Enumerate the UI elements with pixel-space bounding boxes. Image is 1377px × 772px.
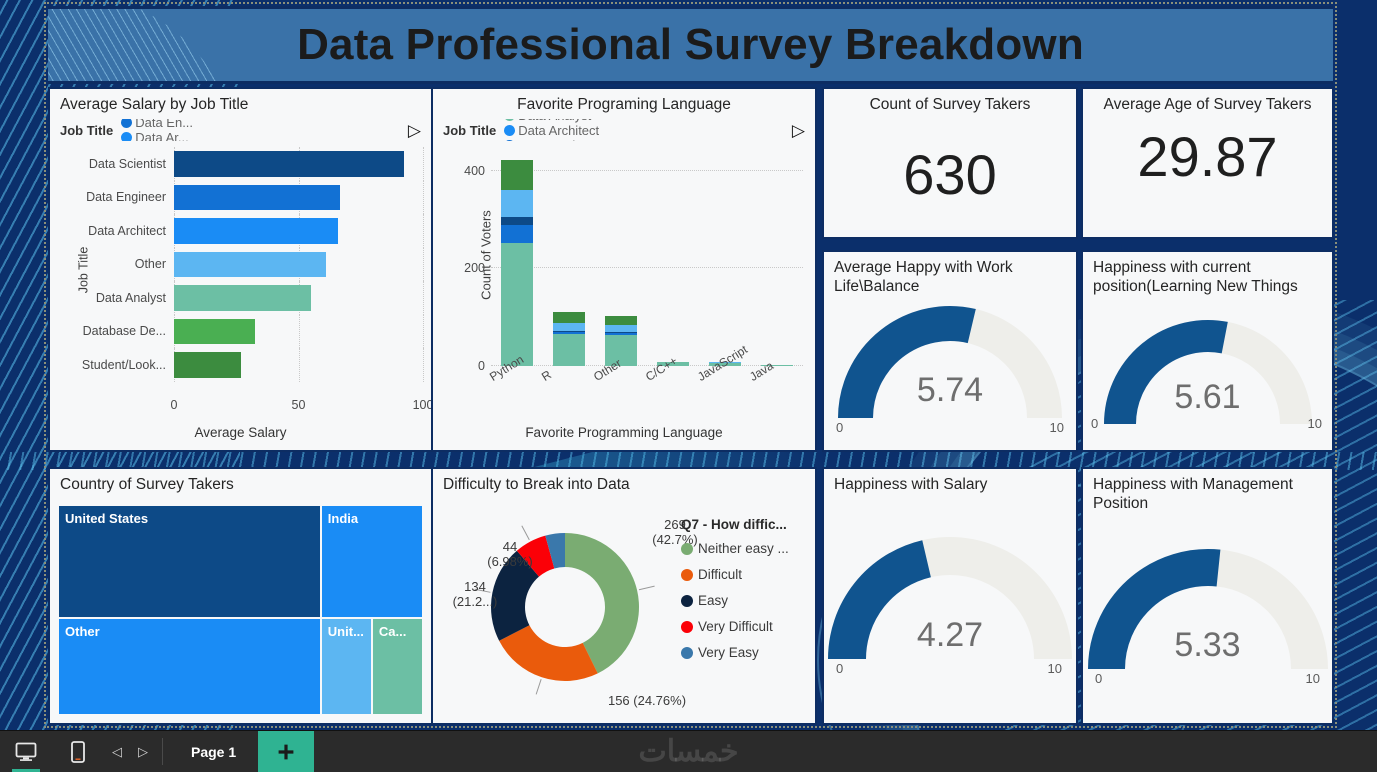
legend-key-label: Job Title [443,123,496,138]
stacked-column[interactable]: R [553,312,586,366]
legend-color-dot-icon [504,119,515,121]
donut-slice[interactable] [499,625,598,681]
x-axis-tick-label: 100 [413,398,433,412]
legend-items-container[interactable]: Data AnalystData ArchitectData Engin... [504,119,603,141]
page-tab-page-1[interactable]: Page 1 [169,731,258,772]
stacked-column[interactable]: Other [605,316,638,366]
bar-track [174,315,423,349]
donut-legend-title: Q7 - How diffic... [681,517,809,532]
previous-page-button[interactable]: ◁ [104,731,130,772]
donut-legend-item-label: Very Easy [698,645,759,660]
legend-color-dot-icon [681,647,693,659]
y-axis-tick-label: 0 [478,359,485,373]
gauge-value-work-life-balance: 5.74 [824,371,1076,410]
next-page-button[interactable]: ▷ [130,731,156,772]
mobile-view-button[interactable] [52,731,104,772]
tile-gauge-management-position[interactable]: Happiness with Management Position 5.33 … [1081,467,1334,725]
gridline: 200 [491,267,803,268]
legend-key-label: Job Title [60,123,113,138]
tile-average-age-of-survey-takers[interactable]: Average Age of Survey Takers 29.87 [1081,87,1334,239]
x-axis-tick-label: C/C++ [643,354,680,384]
legend-item-label: Data En... [135,119,193,130]
legend-color-dot-icon [681,621,693,633]
x-axis-title-favorite-language: Favorite Programming Language [433,425,815,440]
gauge-max-label: 10 [1048,661,1062,676]
donut-data-label-value: 134 [437,579,513,594]
bar-category-label: Student/Look... [62,358,174,372]
bar-category-label: Database De... [62,324,174,338]
gauge-title-management-position: Happiness with Management Position [1083,469,1332,514]
donut-data-label: 134(21.2...) [437,579,513,610]
legend-color-dot-icon [121,119,132,128]
kpi-value-average-age: 29.87 [1083,129,1332,185]
bar-category-label: Data Architect [62,224,174,238]
gridline [423,248,424,282]
gauge-value-management-position: 5.33 [1083,626,1332,665]
gauge-max-label: 10 [1050,420,1064,435]
gauge-max-label: 10 [1308,416,1322,431]
bar-fill[interactable] [174,285,311,311]
power-bi-report-window: Data Professional Survey Breakdown Avera… [0,0,1377,772]
legend-item-label: Data Architect [518,123,599,138]
donut-leader-line [639,586,655,590]
legend-items-container[interactable]: Data Sci...Data En...Data Ar...Other [121,119,199,141]
stacked-column-segment[interactable] [501,160,534,189]
gridline [423,181,424,215]
tile-favorite-programming-language[interactable]: Favorite Programing Language Job Title D… [431,87,817,452]
tile-gauge-work-life-balance[interactable]: Average Happy with Work Life\Balance 5.7… [822,250,1078,452]
bar-track [174,214,423,248]
status-bar-divider [162,738,163,765]
gridline [423,281,424,315]
donut-legend-items[interactable]: Neither easy ...DifficultEasyVery Diffic… [681,541,809,660]
stacked-column[interactable]: Java [761,365,794,366]
tile-count-of-survey-takers[interactable]: Count of Survey Takers 630 [822,87,1078,239]
bar-fill[interactable] [174,252,326,278]
bar-track [174,147,423,181]
bar-category-label: Data Analyst [62,291,174,305]
donut-data-label-percent: (21.2...) [437,594,513,609]
tile-average-salary-by-job-title[interactable]: Average Salary by Job Title Job Title Da… [48,87,433,452]
legend-item[interactable]: Data Ar... [121,130,195,141]
bar-fill[interactable] [174,185,340,211]
legend-item[interactable]: Data Architect [504,123,599,138]
stacked-column-segment[interactable] [501,217,534,225]
stacked-column[interactable]: JavaScript [709,362,742,366]
x-axis-tick-labels: 050100 [174,398,423,414]
treemap-plot-area[interactable]: United StatesOtherIndiaUnit...Ca... [58,505,423,715]
gridline: 400 [491,170,803,171]
legend-favorite-language[interactable]: Job Title Data AnalystData ArchitectData… [443,119,807,141]
donut-legend-item[interactable]: Very Easy [681,645,809,660]
report-canvas: Data Professional Survey Breakdown Avera… [0,0,1377,730]
x-axis-tick-label: 0 [171,398,178,412]
legend-color-dot-icon [681,543,693,555]
bar-track [174,348,423,382]
gridline [299,315,300,349]
bar-chart-row[interactable]: Database De... [62,315,423,349]
treemap-cell[interactable]: Ca... [372,618,423,715]
bar-chart-row[interactable]: Data Analyst [62,281,423,315]
tile-title-country: Country of Survey Takers [50,469,431,495]
banner-decoration [48,6,228,84]
tile-country-of-survey-takers[interactable]: Country of Survey Takers United StatesOt… [48,467,433,725]
bar-chart-row[interactable]: Data Scientist [62,147,423,181]
stacked-column-segment[interactable] [501,190,534,217]
donut-legend-item[interactable]: Neither easy ... [681,541,809,556]
tile-title-difficulty: Difficulty to Break into Data [433,469,815,495]
bar-category-label: Other [62,257,174,271]
bar-chart-row[interactable]: Other [62,248,423,282]
legend-item[interactable]: Data Engin... [504,138,599,142]
bar-category-label: Data Engineer [62,190,174,204]
gridline [423,147,424,181]
desktop-view-button[interactable] [0,731,52,772]
stacked-column-segment[interactable] [553,323,586,331]
donut-legend-item-label: Easy [698,593,728,608]
bar-fill[interactable] [174,352,241,378]
kpi-title-average-age: Average Age of Survey Takers [1083,89,1332,115]
stacked-column[interactable]: Python [501,160,534,366]
legend-next-arrow-icon[interactable]: ▷ [792,122,807,139]
legend-item-label: Data Engin... [518,138,593,142]
bar-chart-row[interactable]: Student/Look... [62,348,423,382]
stacked-column-segment[interactable] [553,312,586,323]
legend-item-label: Data Ar... [135,130,188,141]
donut-leader-line [522,526,530,540]
bar-chart-row[interactable]: Data Engineer [62,181,423,215]
bar-fill[interactable] [174,218,338,244]
treemap-cell[interactable]: United States [58,505,321,618]
tile-gauge-happiness-with-salary[interactable]: Happiness with Salary 4.27 0 10 [822,467,1078,725]
donut-legend-item-label: Difficult [698,567,742,582]
bar-track [174,181,423,215]
legend-next-arrow-icon[interactable]: ▷ [408,122,423,139]
report-title-banner: Data Professional Survey Breakdown [48,6,1333,84]
page-nav-arrows: ◁ ▷ [104,731,156,772]
desktop-icon [15,742,37,762]
bar-chart-row[interactable]: Data Architect [62,214,423,248]
legend-color-dot-icon [121,132,132,141]
bar-fill[interactable] [174,319,255,345]
tile-title-average-salary: Average Salary by Job Title [50,89,431,115]
page-title: Data Professional Survey Breakdown [297,20,1084,70]
bar-chart-plot-area: Data ScientistData EngineerData Architec… [62,147,423,388]
tile-difficulty-to-break-into-data[interactable]: Difficulty to Break into Data 269(42.7%)… [431,467,817,725]
donut-legend-item[interactable]: Very Difficult [681,619,809,634]
gauge-min-label: 0 [836,661,843,676]
bar-category-label: Data Scientist [62,157,174,171]
gauge-max-label: 10 [1306,671,1320,686]
stacked-column-plot-area: 0200400PythonROtherC/C++JavaScriptJava [491,151,803,366]
legend-color-dot-icon [681,569,693,581]
gauge-value-happiness-salary: 4.27 [824,616,1076,655]
stacked-column-segment[interactable] [605,325,638,332]
stacked-column-segment[interactable] [501,243,534,366]
legend-item[interactable]: Data En... [121,119,195,130]
plus-icon [276,742,296,762]
bar-track [174,281,423,315]
legend-color-dot-icon [504,140,515,142]
gridline [423,348,424,382]
donut-legend-item-label: Very Difficult [698,619,773,634]
stacked-column-segment[interactable] [501,225,534,243]
treemap-cell[interactable]: Unit... [321,618,372,715]
donut-data-label: 44(6.98%) [472,539,548,570]
donut-legend-item[interactable]: Easy [681,593,809,608]
gauge-value-learning-new-things: 5.61 [1083,378,1332,417]
add-page-button[interactable] [258,731,314,772]
legend-color-dot-icon [681,595,693,607]
stacked-column-segment[interactable] [553,334,586,366]
kpi-value-count-of-survey-takers: 630 [824,147,1076,203]
gauge-title-learning-new-things: Happiness with current position(Learning… [1083,252,1332,297]
donut-data-label-percent: (6.98%) [472,554,548,569]
gridline [423,214,424,248]
kpi-title-count-of-survey-takers: Count of Survey Takers [824,89,1076,115]
legend-average-salary[interactable]: Job Title Data Sci...Data En...Data Ar..… [60,119,423,141]
gauge-min-label: 0 [836,420,843,435]
gauge-min-label: 0 [1095,671,1102,686]
donut-data-label-value: 44 [472,539,548,554]
view-mode-buttons [0,731,104,772]
stacked-column-segment[interactable] [605,316,638,325]
donut-legend-item[interactable]: Difficult [681,567,809,582]
gauge-title-happiness-salary: Happiness with Salary [824,469,1076,495]
legend-color-dot-icon [504,125,515,136]
x-axis-tick-label: 50 [292,398,306,412]
x-axis-title-average-salary: Average Salary [50,425,431,440]
gridline [423,315,424,349]
y-axis-tick-label: 200 [464,261,485,275]
y-axis-tick-label: 400 [464,164,485,178]
donut-legend[interactable]: Q7 - How diffic... Neither easy ...Diffi… [681,517,809,671]
bar-fill[interactable] [174,151,404,177]
treemap-cell[interactable]: Other [58,618,321,715]
x-axis-tick-label: R [539,367,554,383]
treemap-cell[interactable]: India [321,505,423,618]
gauge-min-label: 0 [1091,416,1098,431]
donut-leader-line [536,679,541,694]
gauge-title-work-life-balance: Average Happy with Work Life\Balance [824,252,1076,297]
donut-data-label-value: 156 (24.76%) [587,693,707,708]
donut-data-label: 156 (24.76%) [587,693,707,708]
bar-track [174,248,423,282]
x-axis-tick-label: Java [747,359,776,384]
gridline [299,348,300,382]
stacked-column[interactable]: C/C++ [657,362,690,366]
donut-legend-item-label: Neither easy ... [698,541,789,556]
phone-icon [71,741,85,763]
tile-title-favorite-language: Favorite Programing Language [433,89,815,115]
tile-gauge-learning-new-things[interactable]: Happiness with current position(Learning… [1081,250,1334,452]
status-bar: ◁ ▷ Page 1 [0,730,1377,772]
